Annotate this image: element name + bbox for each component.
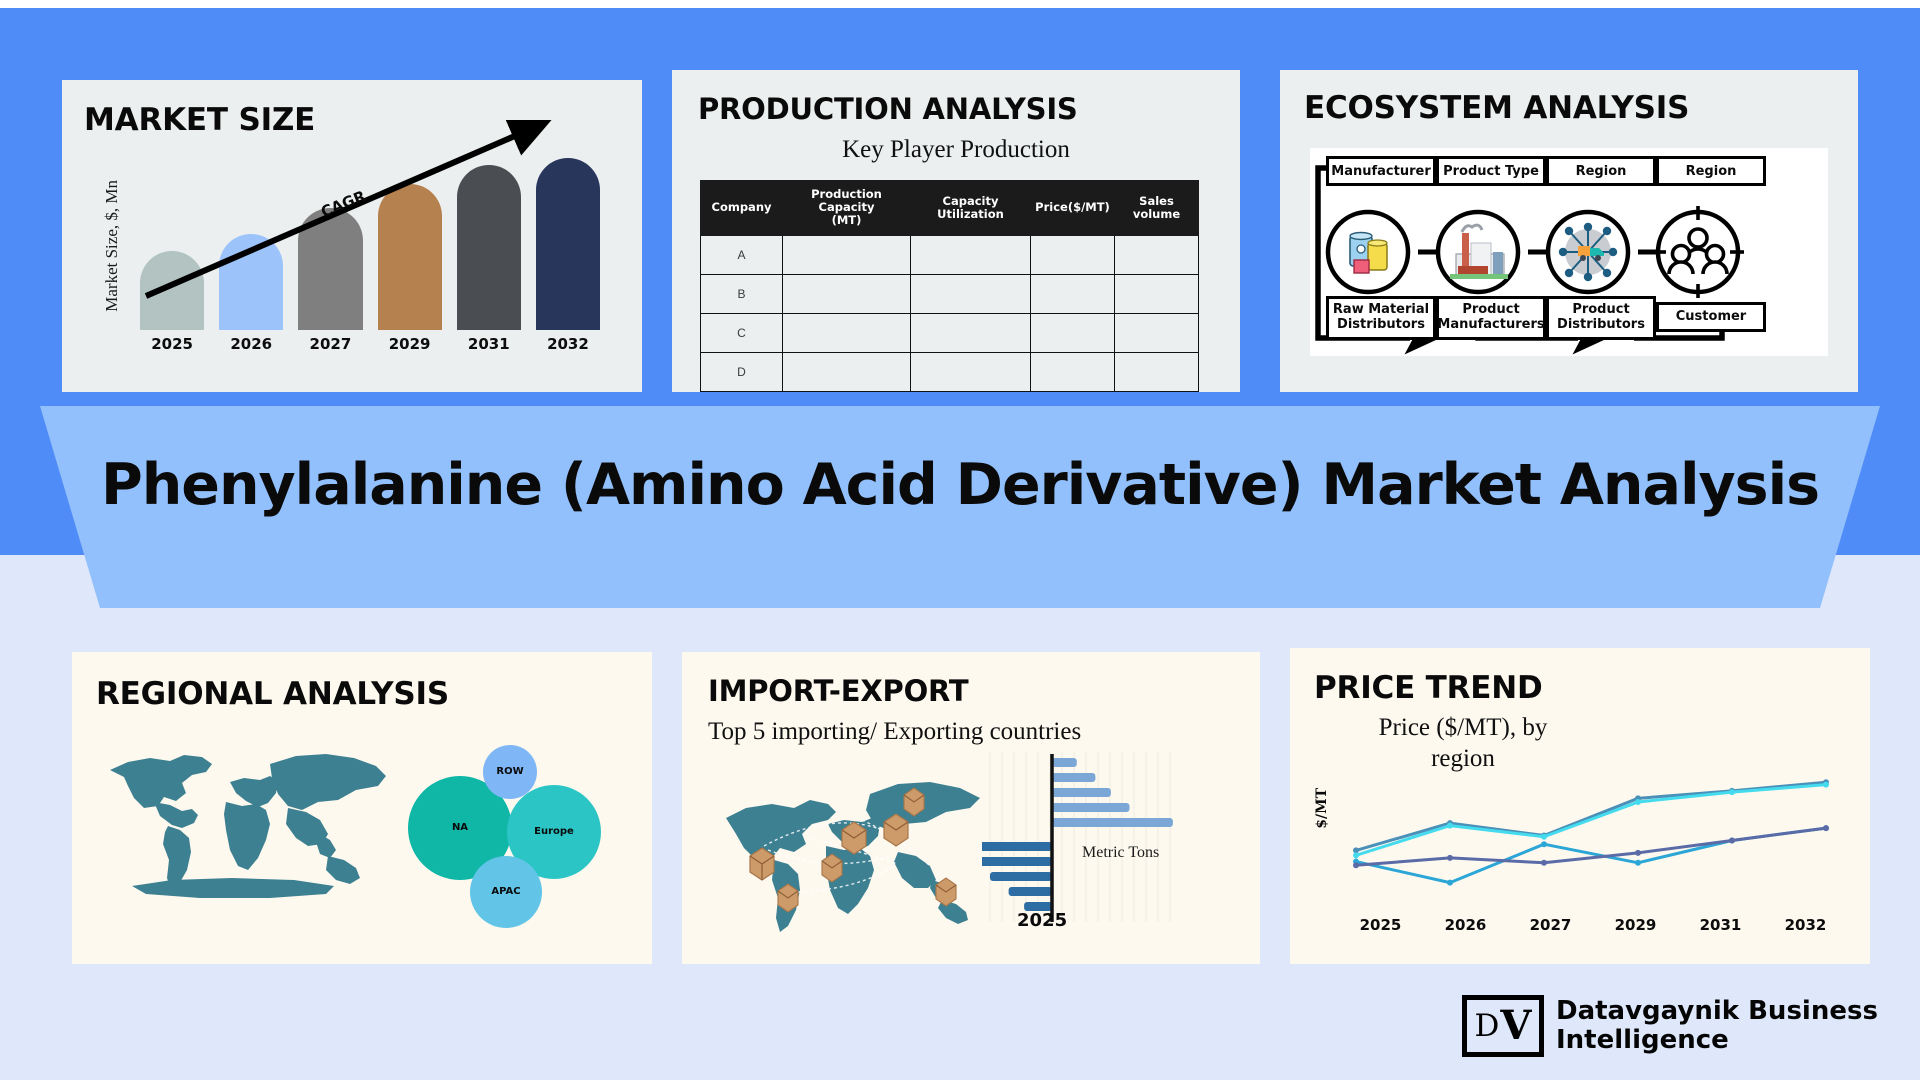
table-cell: [911, 313, 1031, 352]
import-bar: [1052, 788, 1111, 797]
export-bar: [982, 842, 1052, 851]
import-export-subtitle: Top 5 importing/ Exporting countries: [708, 718, 1081, 746]
ecosystem-analysis-title: ECOSYSTEM ANALYSIS: [1304, 90, 1689, 126]
price-trend-point: [1541, 860, 1547, 866]
price-trend-point: [1823, 782, 1829, 788]
price-trend-line: [1356, 785, 1826, 856]
table-cell: A: [701, 235, 783, 274]
table-row: C: [701, 313, 1199, 352]
trade-map-icon: [712, 760, 992, 940]
ecosystem-analysis-card: ECOSYSTEM ANALYSIS: [1280, 70, 1858, 392]
table-cell: [911, 274, 1031, 313]
price-trend-point: [1541, 841, 1547, 847]
price-trend-line-chart: [1338, 766, 1848, 906]
table-column-header: Company: [701, 181, 783, 236]
market-size-card: MARKET SIZE Market Size, $, Mn 202520262…: [62, 80, 642, 392]
table-cell: [1031, 274, 1115, 313]
table-column-header: Price($/MT): [1031, 181, 1115, 236]
production-analysis-card: PRODUCTION ANALYSIS Key Player Productio…: [672, 70, 1240, 392]
table-cell: [1031, 235, 1115, 274]
price-trend-point: [1447, 880, 1453, 886]
import-export-year-label: 2025: [1017, 910, 1067, 931]
market-size-y-axis-label: Market Size, $, Mn: [102, 180, 122, 312]
price-trend-point: [1541, 834, 1547, 840]
logo-mark-icon: D V: [1462, 995, 1544, 1057]
table-column-header: Sales volume: [1115, 181, 1199, 236]
logo-letter-v: V: [1500, 1006, 1531, 1046]
market-size-x-label: 2029: [378, 335, 442, 353]
regional-analysis-title: REGIONAL ANALYSIS: [96, 676, 449, 712]
table-column-header: Production Capacity(MT): [783, 181, 911, 236]
price-trend-line: [1356, 782, 1826, 850]
table-header-row: CompanyProduction Capacity(MT)Capacity U…: [701, 181, 1199, 236]
regional-bubble-label: ROW: [470, 766, 550, 777]
market-size-x-label: 2031: [457, 335, 521, 353]
ecosystem-top-label: Manufacturer: [1326, 156, 1436, 186]
import-export-card: IMPORT-EXPORT Top 5 importing/ Exporting…: [682, 652, 1260, 964]
logo-letter-d: D: [1475, 1008, 1500, 1044]
regional-bubble-label: NA: [420, 822, 500, 833]
market-size-x-label: 2032: [536, 335, 600, 353]
table-cell: [1115, 274, 1199, 313]
table-column-header: Capacity Utilization: [911, 181, 1031, 236]
table-cell: [783, 352, 911, 391]
table-cell: [1031, 313, 1115, 352]
ecosystem-bottom-label: Customer: [1656, 302, 1766, 332]
export-bar: [1009, 887, 1052, 896]
price-trend-x-label: 2029: [1593, 916, 1678, 934]
cagr-arrow-icon: [136, 120, 556, 320]
table-cell: [1031, 352, 1115, 391]
price-trend-x-label: 2027: [1508, 916, 1593, 934]
price-trend-point: [1635, 799, 1641, 805]
table-cell: [783, 274, 911, 313]
market-size-x-label: 2026: [219, 335, 283, 353]
price-trend-point: [1729, 837, 1735, 843]
price-trend-x-label: 2031: [1678, 916, 1763, 934]
ecosystem-bottom-label: Raw MaterialDistributors: [1326, 296, 1436, 340]
table-cell: [783, 235, 911, 274]
ecosystem-bottom-label: ProductManufacturers: [1436, 296, 1546, 340]
market-size-x-label: 2027: [298, 335, 362, 353]
table-cell: B: [701, 274, 783, 313]
import-export-title: IMPORT-EXPORT: [708, 674, 968, 708]
regional-bubble-label: APAC: [466, 886, 546, 897]
logo-line-1: Datavgaynik Business: [1556, 997, 1878, 1026]
table-cell: [1115, 235, 1199, 274]
logo-line-2: Intelligence: [1556, 1026, 1878, 1055]
import-bar: [1052, 773, 1095, 782]
export-bar: [990, 872, 1052, 881]
table-cell: [783, 313, 911, 352]
ecosystem-top-label: Region: [1656, 156, 1766, 186]
price-trend-x-label: 2032: [1763, 916, 1848, 934]
price-trend-point: [1729, 789, 1735, 795]
production-analysis-subtitle: Key Player Production: [672, 136, 1240, 164]
table-cell: D: [701, 352, 783, 391]
logo-text: Datavgaynik Business Intelligence: [1556, 997, 1878, 1055]
price-trend-card: PRICE TREND Price ($/MT), by region $/MT…: [1290, 648, 1870, 964]
market-size-x-label: 2025: [140, 335, 204, 353]
market-size-x-labels: 202520262027202920312032: [140, 335, 600, 353]
import-bar: [1052, 758, 1077, 767]
table-row: A: [701, 235, 1199, 274]
price-trend-point: [1447, 823, 1453, 829]
table-cell: C: [701, 313, 783, 352]
table-row: D: [701, 352, 1199, 391]
import-bar: [1052, 803, 1130, 812]
table-cell: [911, 235, 1031, 274]
import-bar: [1052, 818, 1173, 827]
price-trend-point: [1635, 860, 1641, 866]
price-trend-point: [1635, 850, 1641, 856]
company-logo: D V Datavgaynik Business Intelligence: [1462, 995, 1878, 1057]
table-cell: [1115, 313, 1199, 352]
price-trend-point: [1353, 852, 1359, 858]
page-title: Phenylalanine (Amino Acid Derivative) Ma…: [0, 452, 1920, 518]
export-bar: [982, 857, 1052, 866]
metric-tons-label: Metric Tons: [1082, 844, 1159, 862]
price-trend-x-label: 2026: [1423, 916, 1508, 934]
regional-bubbles: NAEuropeAPACROW: [402, 722, 612, 922]
price-trend-y-axis-label: $/MT: [1314, 788, 1330, 829]
distribution-network-icon: [1560, 224, 1616, 280]
regional-analysis-card: REGIONAL ANALYSIS NAEuropeAPACROW: [72, 652, 652, 964]
customer-group-icon: [1652, 206, 1744, 298]
price-trend-point: [1823, 825, 1829, 831]
key-player-production-table: CompanyProduction Capacity(MT)Capacity U…: [700, 180, 1199, 392]
ecosystem-diagram: ManufacturerProduct TypeRegionRegion Raw…: [1310, 148, 1828, 356]
ecosystem-top-label: Product Type: [1436, 156, 1546, 186]
price-trend-point: [1447, 855, 1453, 861]
price-trend-x-label: 2025: [1338, 916, 1423, 934]
price-trend-title: PRICE TREND: [1314, 670, 1543, 706]
infographic-root: MARKET SIZE Market Size, $, Mn 202520262…: [0, 0, 1920, 1080]
table-body: ABCD: [701, 235, 1199, 391]
price-trend-point: [1353, 862, 1359, 868]
table-cell: [1115, 352, 1199, 391]
table-cell: [911, 352, 1031, 391]
price-trend-x-labels: 202520262027202920312032: [1338, 916, 1848, 934]
production-analysis-title: PRODUCTION ANALYSIS: [698, 92, 1078, 126]
regional-bubble-label: Europe: [514, 826, 594, 837]
ecosystem-top-label: Region: [1546, 156, 1656, 186]
world-map-icon: [92, 730, 392, 920]
ecosystem-bottom-label: ProductDistributors: [1546, 296, 1656, 340]
table-row: B: [701, 274, 1199, 313]
